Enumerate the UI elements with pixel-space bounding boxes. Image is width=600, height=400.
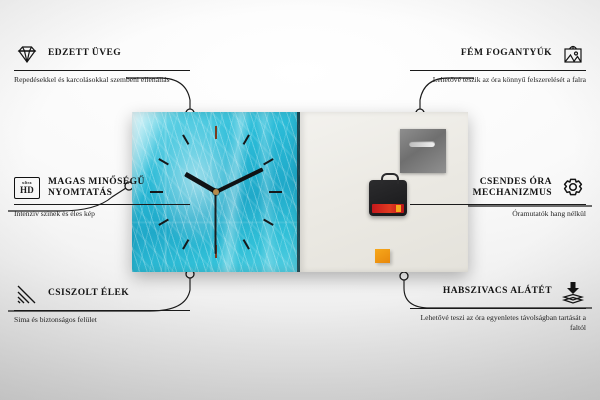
callout-subtitle: Lehetővé teszi az óra egyenletes távolsá…	[410, 313, 586, 332]
callout-title: EDZETT ÜVEG	[48, 48, 121, 60]
callout-divider	[14, 310, 190, 311]
callout-tempered-glass: EDZETT ÜVEG Repedésekkel és karcolásokka…	[14, 42, 190, 85]
callout-silent-mechanism: CSENDES ÓRA MECHANIZMUS Óramutatók hang …	[410, 176, 586, 219]
callout-subtitle: Óramutatók hang nélkül	[410, 209, 586, 219]
callout-title: FÉM FOGANTYÚK	[461, 48, 552, 60]
orange-foam-pad	[375, 249, 390, 263]
callout-hd-print: ultra HD MAGAS MINŐSÉGŰ NYOMTATÁS Intenz…	[14, 176, 190, 219]
ultra-hd-icon: ultra HD	[14, 176, 40, 200]
callout-subtitle: Repedésekkel és karcolásokkal szembeni e…	[14, 75, 190, 85]
callout-polished-edges: CSISZOLT ÉLEK Sima és biztonságos felüle…	[14, 282, 190, 325]
callout-title: MAGAS MINŐSÉGŰ NYOMTATÁS	[48, 177, 190, 200]
battery	[372, 204, 404, 213]
gear-icon	[560, 176, 586, 200]
quartz-mechanism	[369, 180, 407, 216]
polished-edges-icon	[14, 282, 40, 306]
callout-divider	[410, 70, 586, 71]
callout-divider	[410, 204, 586, 205]
callout-foam-pad: HABSZIVACS ALÁTÉT Lehetővé teszi az óra …	[410, 280, 586, 332]
metal-hanger-plate	[400, 129, 446, 173]
callout-subtitle: Lehetővé teszik az óra könnyű felszerelé…	[410, 75, 586, 85]
callout-title: CSENDES ÓRA MECHANIZMUS	[410, 177, 552, 200]
picture-hanger-icon	[560, 42, 586, 66]
callout-subtitle: Sima és biztonságos felület	[14, 315, 190, 325]
callout-divider	[410, 308, 586, 309]
callout-title: CSISZOLT ÉLEK	[48, 288, 129, 300]
foam-pad-icon	[560, 280, 586, 304]
leader-dot-foam-pad	[400, 272, 408, 280]
callout-divider	[14, 204, 190, 205]
callout-subtitle: Intenzív színek és éles kép	[14, 209, 190, 219]
callout-metal-handles: FÉM FOGANTYÚK Lehetővé teszik az óra kön…	[410, 42, 586, 85]
mechanism-hook	[381, 173, 399, 184]
ultra-hd-icon-bottom: HD	[20, 186, 34, 195]
diamond-icon	[14, 42, 40, 66]
hanger-slot	[409, 141, 435, 147]
callout-divider	[14, 70, 190, 71]
callout-title: HABSZIVACS ALÁTÉT	[443, 286, 552, 298]
